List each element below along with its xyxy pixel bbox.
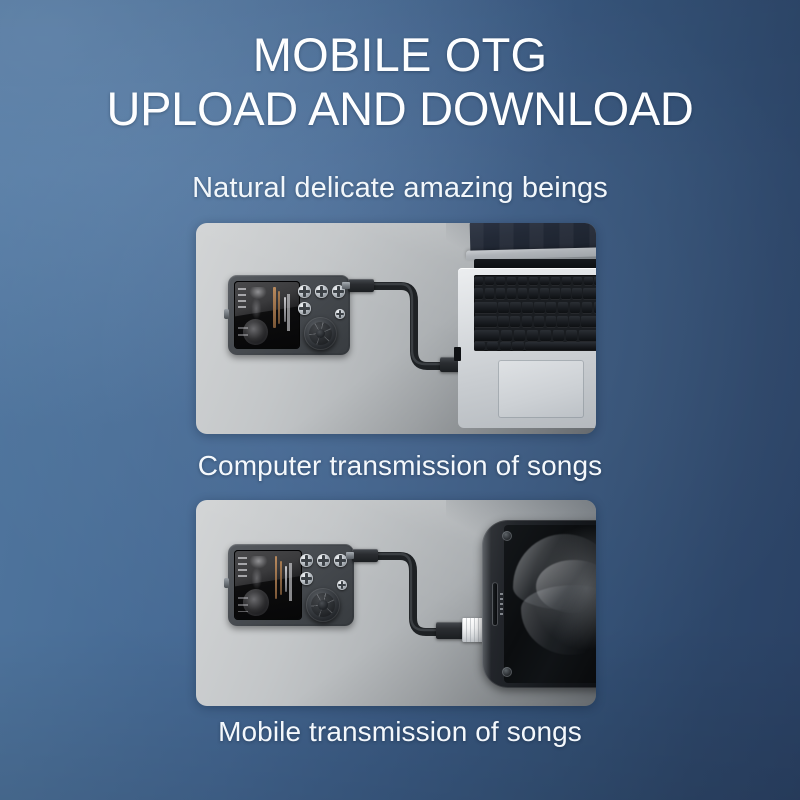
caption-computer: Computer transmission of songs <box>0 450 800 482</box>
product-photo-panel-computer <box>196 223 596 434</box>
usb-plug-tip <box>346 552 354 559</box>
key[interactable] <box>501 330 512 341</box>
key[interactable] <box>507 277 516 285</box>
key[interactable] <box>496 277 505 285</box>
keyboard-row[interactable] <box>474 342 596 350</box>
keyboard-row[interactable] <box>474 288 596 299</box>
key[interactable] <box>507 288 516 299</box>
otg-adapter-icon <box>462 618 484 642</box>
key[interactable] <box>572 288 581 299</box>
key[interactable] <box>546 302 556 313</box>
key[interactable] <box>485 277 494 285</box>
key[interactable] <box>540 277 549 285</box>
key[interactable] <box>529 277 538 285</box>
headline-line-2: UPLOAD AND DOWNLOAD <box>0 82 800 136</box>
key-command[interactable] <box>512 342 523 350</box>
key-backspace[interactable] <box>583 288 596 299</box>
laptop-keyboard[interactable] <box>474 275 596 351</box>
key[interactable] <box>514 330 525 341</box>
key[interactable] <box>573 277 582 285</box>
laptop-base <box>458 268 596 428</box>
page-title: MOBILE OTG UPLOAD AND DOWNLOAD <box>0 28 800 136</box>
key-tab[interactable] <box>474 302 497 313</box>
key[interactable] <box>540 330 551 341</box>
key[interactable] <box>557 316 567 327</box>
key[interactable] <box>518 277 527 285</box>
key[interactable] <box>570 302 580 313</box>
key[interactable] <box>594 302 596 313</box>
key[interactable] <box>510 302 520 313</box>
smartphone-device <box>482 520 596 688</box>
key[interactable] <box>485 288 494 299</box>
usb-plug-icon <box>348 279 374 292</box>
keyboard-row[interactable] <box>474 302 596 313</box>
headline-line-1: MOBILE OTG <box>0 28 800 82</box>
key[interactable] <box>522 302 532 313</box>
key-option[interactable] <box>500 342 511 350</box>
key[interactable] <box>550 288 559 299</box>
key-shift[interactable] <box>474 330 499 341</box>
key[interactable] <box>566 330 577 341</box>
key[interactable] <box>553 330 564 341</box>
key[interactable] <box>562 277 571 285</box>
key[interactable] <box>582 302 592 313</box>
phone-screen <box>504 525 596 683</box>
key-control[interactable] <box>487 342 498 350</box>
laptop-trackpad[interactable] <box>498 360 584 418</box>
key-caps-lock[interactable] <box>474 316 497 327</box>
product-photo-panel-mobile <box>196 500 596 706</box>
key[interactable] <box>594 277 596 285</box>
key[interactable] <box>498 316 508 327</box>
key-space[interactable] <box>525 342 596 350</box>
key-shift-right[interactable] <box>579 330 596 341</box>
key[interactable] <box>584 277 593 285</box>
usb-plug-icon <box>352 549 378 562</box>
phone-brand-mark <box>500 593 503 615</box>
key-fn[interactable] <box>474 342 485 350</box>
key[interactable] <box>546 316 556 327</box>
usb-plug-icon <box>436 622 464 639</box>
key[interactable] <box>518 288 527 299</box>
key[interactable] <box>474 277 483 285</box>
caption-mobile: Mobile transmission of songs <box>0 716 800 748</box>
key[interactable] <box>522 316 532 327</box>
laptop-device <box>452 223 596 434</box>
phone-sensor-icon <box>502 667 512 677</box>
key[interactable] <box>569 316 579 327</box>
phone-sensor-icon <box>502 531 512 541</box>
key[interactable] <box>529 288 538 299</box>
subtitle: Natural delicate amazing beings <box>0 172 800 205</box>
keyboard-row[interactable] <box>474 277 596 285</box>
key[interactable] <box>498 302 508 313</box>
keyboard-row[interactable] <box>474 330 596 341</box>
key[interactable] <box>540 288 549 299</box>
key[interactable] <box>510 316 520 327</box>
key[interactable] <box>534 302 544 313</box>
key[interactable] <box>558 302 568 313</box>
key-return[interactable] <box>581 316 596 327</box>
home-button-icon[interactable] <box>492 582 498 626</box>
otg-adapter-ridges <box>462 618 484 642</box>
key[interactable] <box>474 288 483 299</box>
usb-plug-tip <box>342 282 350 289</box>
key[interactable] <box>527 330 538 341</box>
key[interactable] <box>534 316 544 327</box>
keyboard-row[interactable] <box>474 316 596 327</box>
key[interactable] <box>496 288 505 299</box>
laptop-usb-port <box>454 347 461 361</box>
key[interactable] <box>551 277 560 285</box>
key[interactable] <box>561 288 570 299</box>
